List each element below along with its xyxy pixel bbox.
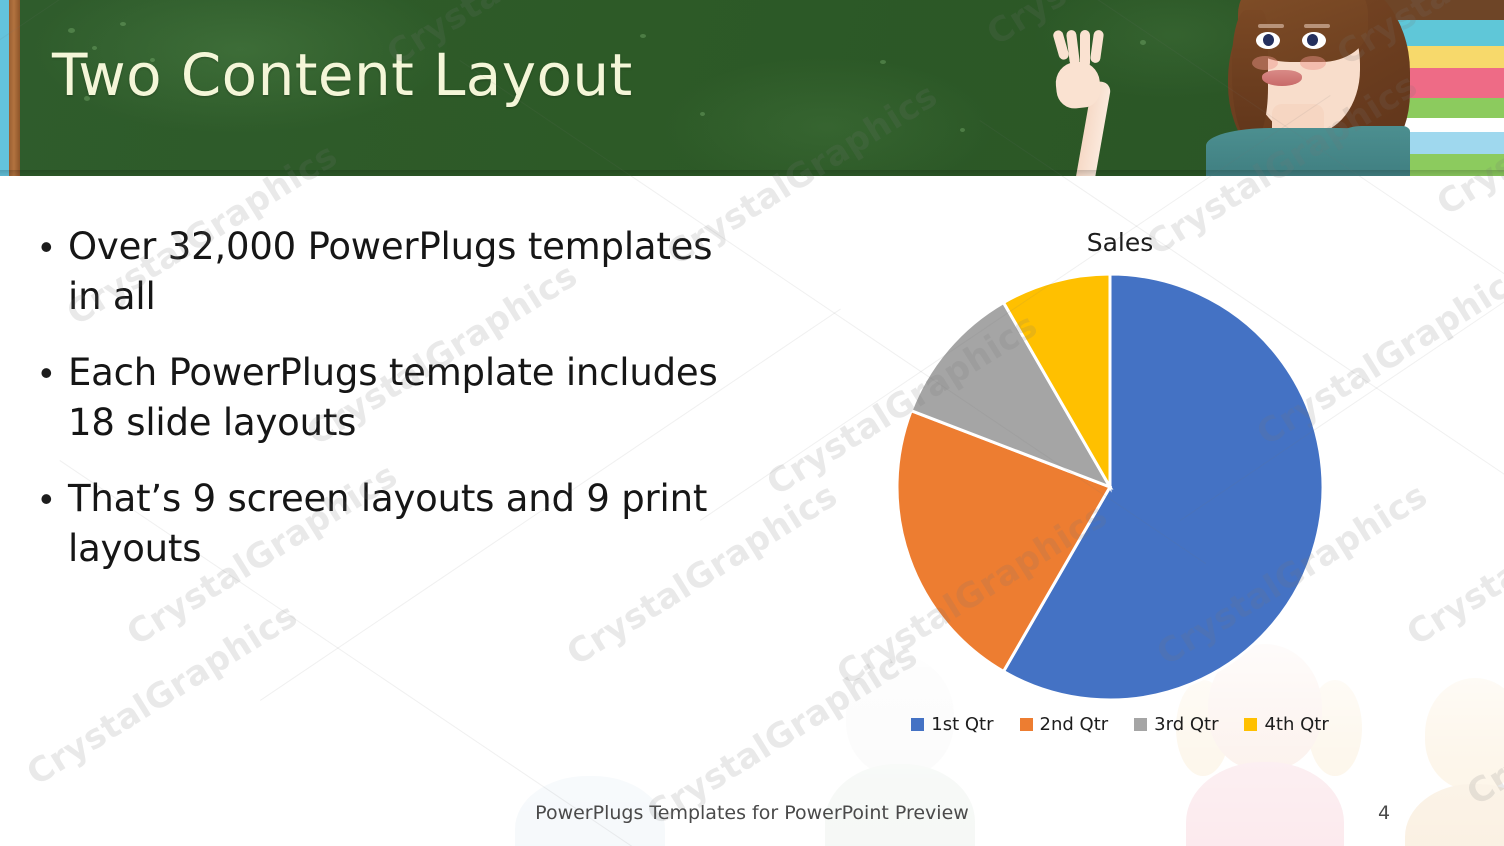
board-frame-blue [0, 0, 9, 176]
content-bullet-list: • Over 32,000 PowerPlugs templates in al… [40, 222, 740, 600]
chart-title: Sales [820, 228, 1420, 257]
bullet-text: Each PowerPlugs template includes 18 sli… [68, 348, 740, 448]
page-title: Two Content Layout [52, 40, 633, 110]
slide-footer: PowerPlugs Templates for PowerPoint Prev… [0, 802, 1504, 824]
slide-header: Two Content Layout [0, 0, 1504, 176]
bullet-marker-icon: • [40, 348, 68, 448]
slide-canvas: Two Content Layout • Over 32,000 PowerPl… [0, 0, 1504, 846]
list-item: • Over 32,000 PowerPlugs templates in al… [40, 222, 740, 322]
raised-hand-illustration [1028, 22, 1148, 176]
pie-graphic [820, 270, 1420, 700]
list-item: • Each PowerPlugs template includes 18 s… [40, 348, 740, 448]
board-frame-wood [9, 0, 20, 176]
legend-item-4th-qtr[interactable]: 4th Qtr [1244, 714, 1328, 735]
legend-swatch-icon [1020, 718, 1033, 731]
slide-page-number: 4 [1360, 802, 1408, 824]
legend-label: 2nd Qtr [1040, 714, 1109, 735]
list-item: • That’s 9 screen layouts and 9 print la… [40, 474, 740, 574]
pie-svg [820, 270, 1420, 700]
legend-item-1st-qtr[interactable]: 1st Qtr [911, 714, 993, 735]
legend-label: 4th Qtr [1264, 714, 1328, 735]
legend-label: 1st Qtr [931, 714, 993, 735]
chart-legend: 1st Qtr2nd Qtr3rd Qtr4th Qtr [820, 714, 1420, 735]
bullet-text: That’s 9 screen layouts and 9 print layo… [68, 474, 740, 574]
legend-item-2nd-qtr[interactable]: 2nd Qtr [1020, 714, 1109, 735]
bullet-marker-icon: • [40, 222, 68, 322]
legend-item-3rd-qtr[interactable]: 3rd Qtr [1134, 714, 1218, 735]
legend-swatch-icon [911, 718, 924, 731]
watermark-text: CrystalGraphics [1460, 615, 1504, 814]
legend-label: 3rd Qtr [1154, 714, 1218, 735]
watermark-text: CrystalGraphics [20, 595, 305, 794]
bullet-marker-icon: • [40, 474, 68, 574]
legend-swatch-icon [1134, 718, 1147, 731]
bullet-text: Over 32,000 PowerPlugs templates in all [68, 222, 740, 322]
legend-swatch-icon [1244, 718, 1257, 731]
sales-pie-chart: Sales 1st Qtr2nd Qtr3rd Qtr4th Qtr [820, 228, 1420, 758]
